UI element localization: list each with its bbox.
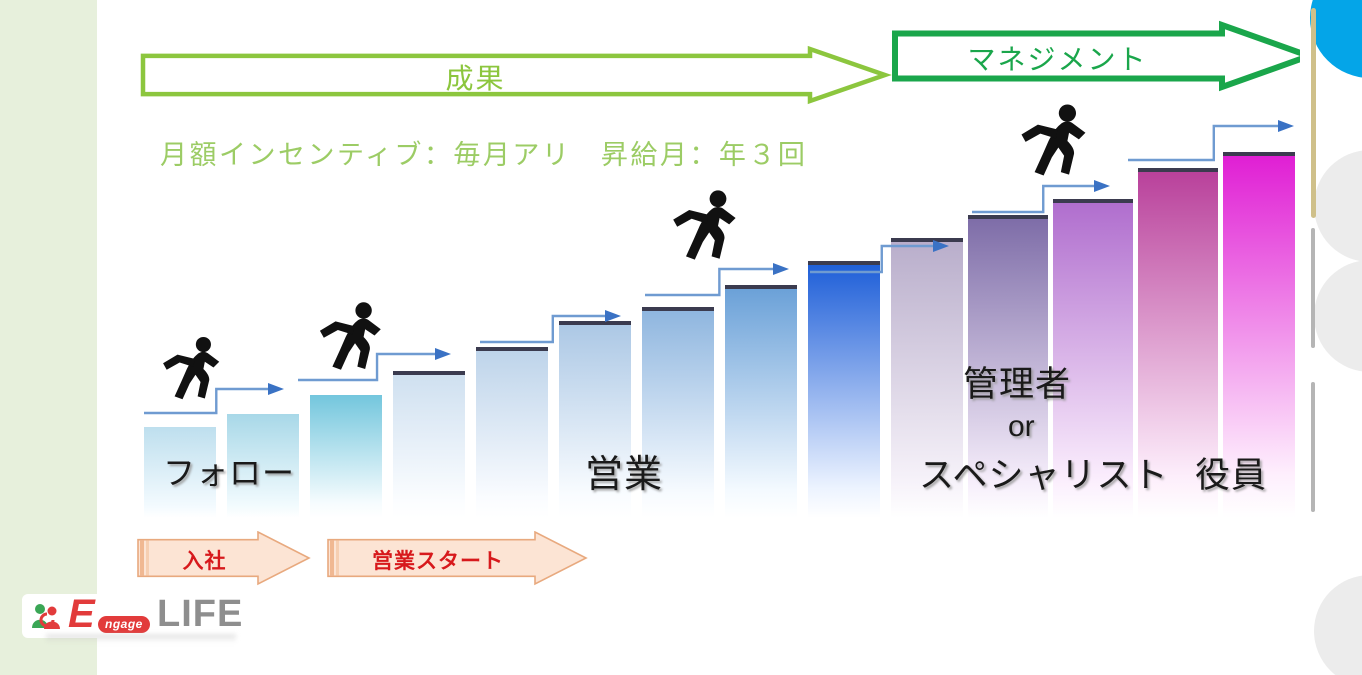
runner-icon	[307, 298, 389, 376]
banner-arrow-management	[893, 22, 1313, 100]
chart-bar	[1053, 199, 1133, 518]
chart-bar	[1223, 152, 1295, 518]
nav-thumb-2[interactable]	[1314, 150, 1362, 262]
step-arrow	[972, 180, 1113, 216]
engage-people-icon	[30, 602, 64, 630]
chart-bar	[476, 347, 548, 518]
nav-scroll-indicator-2[interactable]	[1311, 228, 1315, 348]
chart-bar	[144, 427, 216, 518]
banner-arrow-seika	[141, 46, 889, 114]
chart-bar	[1138, 168, 1218, 518]
nav-thumb-3[interactable]	[1314, 260, 1362, 372]
nav-scroll-indicator-3[interactable]	[1311, 382, 1315, 512]
chart-bar	[808, 261, 880, 518]
runner-icon	[152, 333, 226, 405]
chart-bar	[310, 395, 382, 518]
step-arrow	[1128, 120, 1297, 164]
incentive-subtitle: 月額インセンティブ：毎月アリ 昇給月：年３回	[160, 133, 807, 172]
milestone-arrow	[137, 531, 311, 587]
chart-bar	[227, 414, 299, 518]
chart-bar	[642, 307, 714, 518]
runner-icon	[660, 186, 744, 266]
slide-canvas: フォロー営業管理者orスペシャリスト役員 月額インセンティブ：毎月アリ 昇給月：…	[0, 0, 1362, 675]
step-arrow	[645, 263, 792, 299]
step-arrow	[480, 310, 624, 346]
engage-life-logo: E ngage LIFE	[22, 594, 234, 642]
nav-scroll-indicator-active[interactable]	[1311, 8, 1316, 218]
logo-e-letter: E	[68, 592, 94, 637]
chart-bar	[968, 215, 1048, 518]
nav-thumb-1-active[interactable]	[1310, 0, 1362, 78]
logo-ngage-badge: ngage	[98, 616, 150, 633]
nav-thumb-4[interactable]	[1314, 575, 1362, 675]
chart-bar	[891, 238, 963, 518]
chart-bar	[725, 285, 797, 518]
step-arrow	[810, 240, 952, 276]
logo-reflection	[46, 634, 236, 643]
logo-life-text: LIFE	[157, 593, 243, 636]
chart-bar	[393, 371, 465, 518]
slide-navigator-panel[interactable]	[1300, 0, 1362, 675]
runner-icon	[1008, 100, 1094, 182]
milestone-arrow	[327, 531, 588, 587]
chart-bar	[559, 321, 631, 518]
